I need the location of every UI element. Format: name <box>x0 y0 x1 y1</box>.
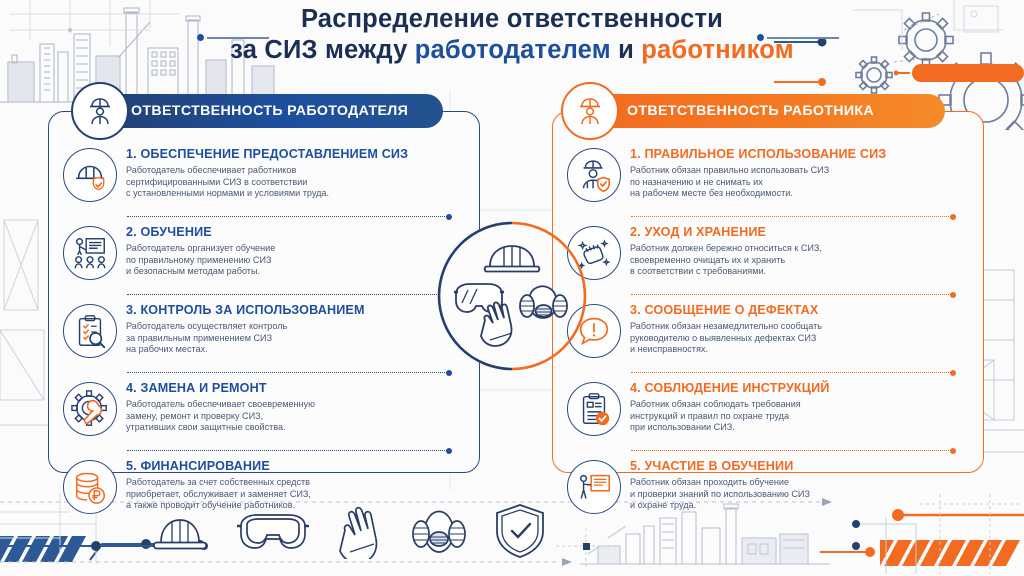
item-text: 2. УХОД И ХРАНЕНИЕ Работник должен береж… <box>630 224 822 280</box>
title-part-and: и <box>611 36 641 64</box>
item-description: Работник обязан проходить обучение и про… <box>630 477 810 512</box>
desc-line: в соответствии с требованиями. <box>630 266 822 278</box>
desc-line: на рабочих местах. <box>126 344 365 356</box>
desc-line: руководителю о выявленных дефектах СИЗ <box>630 333 822 345</box>
worker-responsibility-panel: ОТВЕТСТВЕННОСТЬ РАБОТНИКА <box>552 111 984 473</box>
item-description: Работодатель обеспечивает своевременную … <box>126 399 315 434</box>
item-separator <box>127 450 449 451</box>
shield-check-icon <box>492 501 548 561</box>
list-item: 5. УЧАСТИЕ В ОБУЧЕНИИ Работник обязан пр… <box>567 458 971 514</box>
list-item: 4. СОБЛЮДЕНИЕ ИНСТРУКЦИЙ Работник обязан… <box>567 380 971 436</box>
desc-line: утративших свои защитные свойства. <box>126 422 315 434</box>
desc-line: Работодатель организует обучение <box>126 243 275 255</box>
separator-dot <box>446 448 452 454</box>
item-separator <box>127 372 449 373</box>
item-text: 3. КОНТРОЛЬ ЗА ИСПОЛЬЗОВАНИЕМ Работодате… <box>126 302 365 358</box>
separator-dot <box>950 370 956 376</box>
desc-line: сертифицированными СИЗ в соответствии <box>126 177 408 189</box>
item-text: 1. ОБЕСПЕЧЕНИЕ ПРЕДОСТАВЛЕНИЕМ СИЗ Работ… <box>126 146 408 202</box>
item-title: 5. УЧАСТИЕ В ОБУЧЕНИИ <box>630 459 810 474</box>
item-title: 1. ОБЕСПЕЧЕНИЕ ПРЕДОСТАВЛЕНИЕМ СИЗ <box>126 147 408 162</box>
item-title: 4. ЗАМЕНА И РЕМОНТ <box>126 381 315 396</box>
item-description: Работник должен бережно относиться к СИЗ… <box>630 243 822 278</box>
desc-line: Работник обязан проходить обучение <box>630 477 810 489</box>
separator-dot <box>950 292 956 298</box>
coins-ruble-icon <box>63 460 117 514</box>
separator-dot <box>950 214 956 220</box>
employer-responsibility-panel: ОТВЕТСТВЕННОСТЬ РАБОТОДАТЕЛЯ <box>48 111 480 473</box>
desc-line: Работник должен бережно относиться к СИЗ… <box>630 243 822 255</box>
desc-line: инструкций и правил по охране труда <box>630 411 830 423</box>
respirator-icon <box>520 286 567 318</box>
list-item: 4. ЗАМЕНА И РЕМОНТ Работодатель обеспечи… <box>63 380 467 436</box>
central-ppe-emblem <box>432 216 592 376</box>
list-item: 1. ПРАВИЛЬНОЕ ИСПОЛЬЗОВАНИЕ СИЗ Работник… <box>567 146 971 202</box>
item-text: 5. УЧАСТИЕ В ОБУЧЕНИИ Работник обязан пр… <box>630 458 810 514</box>
desc-line: при использовании СИЗ. <box>630 422 830 434</box>
list-item: 2. ОБУЧЕНИЕ Работодатель организует обуч… <box>63 224 467 280</box>
item-title: 3. КОНТРОЛЬ ЗА ИСПОЛЬЗОВАНИЕМ <box>126 303 365 318</box>
desc-line: с установленными нормами и условиями тру… <box>126 188 408 200</box>
item-description: Работник обязан правильно использовать С… <box>630 165 886 200</box>
item-separator <box>127 216 449 217</box>
desc-line: на рабочем месте без необходимости. <box>630 188 886 200</box>
desc-line: по правильному применению СИЗ <box>126 255 275 267</box>
employer-panel-header: ОТВЕТСТВЕННОСТЬ РАБОТОДАТЕЛЯ <box>83 94 443 128</box>
item-description: Работник обязан соблюдать требования инс… <box>630 399 830 434</box>
item-separator <box>631 450 953 451</box>
item-text: 4. ЗАМЕНА И РЕМОНТ Работодатель обеспечи… <box>126 380 315 436</box>
title-line-1: Распределение ответственности <box>0 4 1024 35</box>
title-line-2: за СИЗ между работодателем и работником <box>0 35 1024 66</box>
desc-line: и неисправностях. <box>630 344 822 356</box>
title-part-a: за СИЗ между <box>230 36 415 64</box>
worker-helmet-icon <box>561 82 619 140</box>
desc-line: Работодатель осуществляет контроль <box>126 321 365 333</box>
item-separator <box>631 294 953 295</box>
item-separator <box>127 294 449 295</box>
desc-line: своевременно очищать их и хранить <box>630 255 822 267</box>
item-description: Работодатель организует обучение по прав… <box>126 243 275 278</box>
desc-line: и охране труда. <box>630 500 810 512</box>
worker-panel-header: ОТВЕТСТВЕННОСТЬ РАБОТНИКА <box>575 94 945 128</box>
desc-line: Работник обязан соблюдать требования <box>630 399 830 411</box>
orange-accent-bar-topright <box>894 64 1024 86</box>
item-title: 3. СООБЩЕНИЕ О ДЕФЕКТАХ <box>630 303 822 318</box>
employer-panel-header-label: ОТВЕТСТВЕННОСТЬ РАБОТОДАТЕЛЯ <box>131 103 408 119</box>
hard-hat-icon <box>148 506 212 556</box>
hazard-stripes-bottomright-icon <box>880 540 1024 566</box>
hard-hat-shield-icon <box>63 148 117 202</box>
item-title: 2. ОБУЧЕНИЕ <box>126 225 275 240</box>
desc-line: Работодатель за счет собственных средств <box>126 477 311 489</box>
worker-shield-check-icon <box>567 148 621 202</box>
item-text: 3. СООБЩЕНИЕ О ДЕФЕКТАХ Работник обязан … <box>630 302 822 358</box>
item-text: 2. ОБУЧЕНИЕ Работодатель организует обуч… <box>126 224 275 280</box>
worker-helmet-icon <box>71 82 129 140</box>
desc-line: Работник обязан незамедлительно сообщать <box>630 321 822 333</box>
title-part-worker: работником <box>641 36 794 64</box>
training-board-icon <box>63 226 117 280</box>
item-separator <box>631 216 953 217</box>
gear-wrench-icon <box>63 382 117 436</box>
separator-dot <box>950 448 956 454</box>
title-block: Распределение ответственности за СИЗ меж… <box>0 4 1024 66</box>
item-title: 2. УХОД И ХРАНЕНИЕ <box>630 225 822 240</box>
presenter-board-icon <box>567 460 621 514</box>
respirator-icon <box>408 506 470 556</box>
item-description: Работник обязан незамедлительно сообщать… <box>630 321 822 356</box>
desc-line: и проверки знаний по использованию СИЗ <box>630 489 810 501</box>
hazard-stripes-bottomleft-icon <box>0 536 110 562</box>
item-text: 4. СОБЛЮДЕНИЕ ИНСТРУКЦИЙ Работник обязан… <box>630 380 830 436</box>
orange-connector-bottomright-icon <box>820 540 900 566</box>
item-title: 5. ФИНАНСИРОВАНИЕ <box>126 459 311 474</box>
checklist-magnifier-icon <box>63 304 117 358</box>
clipboard-check-icon <box>567 382 621 436</box>
desc-line: Работник обязан правильно использовать С… <box>630 165 886 177</box>
worker-panel-header-label: ОТВЕТСТВЕННОСТЬ РАБОТНИКА <box>627 103 874 119</box>
desc-line: Работодатель обеспечивает своевременную <box>126 399 315 411</box>
list-item: 1. ОБЕСПЕЧЕНИЕ ПРЕДОСТАВЛЕНИЕМ СИЗ Работ… <box>63 146 467 202</box>
safety-gloves-icon <box>333 503 385 559</box>
item-title: 1. ПРАВИЛЬНОЕ ИСПОЛЬЗОВАНИЕ СИЗ <box>630 147 886 162</box>
list-item: 3. СООБЩЕНИЕ О ДЕФЕКТАХ Работник обязан … <box>567 302 971 358</box>
desc-line: Работодатель обеспечивает работников <box>126 165 408 177</box>
item-text: 1. ПРАВИЛЬНОЕ ИСПОЛЬЗОВАНИЕ СИЗ Работник… <box>630 146 886 202</box>
desc-line: по назначению и не снимать их <box>630 177 886 189</box>
list-item: 3. КОНТРОЛЬ ЗА ИСПОЛЬЗОВАНИЕМ Работодате… <box>63 302 467 358</box>
infographic-canvas: Распределение ответственности за СИЗ меж… <box>0 0 1024 576</box>
desc-line: замену, ремонт и проверку СИЗ, <box>126 411 315 423</box>
desc-line: и безопасным методам работы. <box>126 266 275 278</box>
footer-ppe-icons <box>148 500 548 562</box>
item-description: Работодатель осуществляет контроль за пр… <box>126 321 365 356</box>
title-part-employer: работодателем <box>415 36 611 64</box>
desc-line: за правильным применением СИЗ <box>126 333 365 345</box>
item-title: 4. СОБЛЮДЕНИЕ ИНСТРУКЦИЙ <box>630 381 830 396</box>
item-separator <box>631 372 953 373</box>
safety-goggles-icon <box>235 508 311 554</box>
desc-line: приобретает, обслуживает и заменяет СИЗ, <box>126 489 311 501</box>
item-description: Работодатель обеспечивает работников сер… <box>126 165 408 200</box>
list-item: 2. УХОД И ХРАНЕНИЕ Работник должен береж… <box>567 224 971 280</box>
